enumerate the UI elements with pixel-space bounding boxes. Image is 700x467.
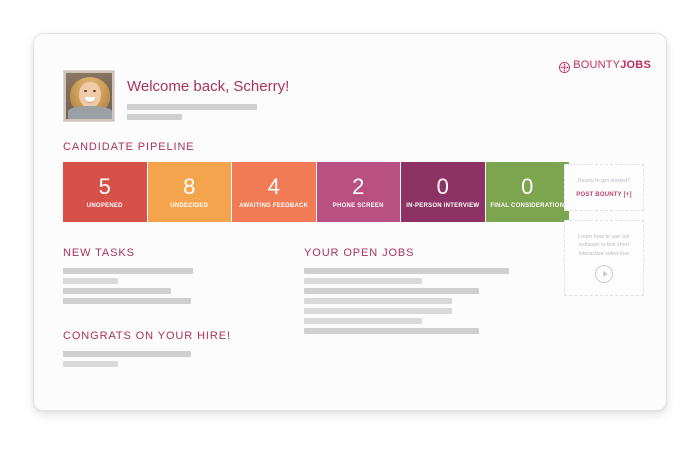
brand-name-light: BOUNTY [573,59,620,71]
new-tasks-section: NEW TASKS [63,247,253,308]
placeholder-bar [304,288,479,294]
new-tasks-placeholder-bars [63,268,253,304]
pipeline-card-undecided[interactable]: 8UNDECIDED [148,162,232,222]
play-circle-icon[interactable] [595,265,613,283]
pipeline-card-count: 0 [521,176,533,198]
candidate-pipeline-heading: CANDIDATE PIPELINE [63,141,569,153]
brand-name: BOUNTYJOBS [573,59,651,71]
pipeline-card-unopened[interactable]: 5UNOPENED [63,162,147,222]
avatar-face [79,82,101,108]
right-rail: Ready to get started? POST BOUNTY [+] Le… [564,164,644,305]
pipeline-card-count: 2 [352,176,364,198]
placeholder-bar [304,308,452,314]
pipeline-card-label: IN-PERSON INTERVIEW [406,203,479,209]
pipeline-card-phone-screen[interactable]: 2PHONE SCREEN [317,162,401,222]
placeholder-bar [63,298,191,304]
placeholder-bar [127,104,257,110]
avatar-eye-left [84,90,87,92]
pipeline-card-count: 5 [99,176,111,198]
placeholder-bar [63,351,191,357]
avatar-shoulders [68,106,112,119]
pinwheel-logo-icon [559,60,570,71]
brand-logo[interactable]: BOUNTYJOBS [559,59,651,71]
open-jobs-heading: YOUR OPEN JOBS [304,247,544,259]
placeholder-bar [63,288,171,294]
pipeline-card-in-person-interview[interactable]: 0IN-PERSON INTERVIEW [401,162,485,222]
play-triangle [603,271,608,277]
placeholder-bar [304,318,422,324]
avatar[interactable] [63,70,115,122]
welcome-text-block: Welcome back, Scherry! [127,70,289,124]
pipeline-card-label: UNDECIDED [170,203,208,209]
placeholder-bar [63,268,193,274]
post-bounty-button[interactable]: POST BOUNTY [+] [571,192,637,198]
post-bounty-caption: Ready to get started? [571,177,637,186]
placeholder-bar [304,328,479,334]
new-tasks-heading: NEW TASKS [63,247,253,259]
placeholder-bar [304,298,452,304]
congrats-placeholder-bars [63,351,253,367]
welcome-placeholder-bars [127,104,289,120]
open-jobs-section: YOUR OPEN JOBS [304,247,544,338]
pipeline-card-label: AWAITING FEEDBACK [239,203,308,209]
pipeline-card-count: 4 [268,176,280,198]
avatar-photo [66,73,112,119]
post-bounty-widget[interactable]: Ready to get started? POST BOUNTY [+] [564,164,644,211]
placeholder-bar [304,268,509,274]
welcome-title: Welcome back, Scherry! [127,78,289,95]
video-tour-caption: Learn how to use our software in this sh… [571,233,637,259]
pipeline-card-label: UNOPENED [87,203,123,209]
pipeline-card-label: FINAL CONSIDERATION [490,203,564,209]
placeholder-bar [63,361,118,367]
open-jobs-placeholder-bars [304,268,544,334]
pipeline-cards: 5UNOPENED8UNDECIDED4AWAITING FEEDBACK2PH… [63,162,569,222]
congrats-section: CONGRATS ON YOUR HIRE! [63,330,253,371]
pipeline-card-final-consideration[interactable]: 0FINAL CONSIDERATION [486,162,570,222]
pipeline-card-awaiting-feedback[interactable]: 4AWAITING FEEDBACK [232,162,316,222]
brand-name-bold: JOBS [620,59,651,71]
app-window: BOUNTYJOBS Welcome back, Scherry! CANDID… [33,33,667,411]
placeholder-bar [304,278,422,284]
pipeline-card-count: 8 [183,176,195,198]
candidate-pipeline-section: CANDIDATE PIPELINE 5UNOPENED8UNDECIDED4A… [63,141,569,222]
placeholder-bar [63,278,118,284]
video-tour-widget[interactable]: Learn how to use our software in this sh… [564,220,644,297]
pipeline-card-label: PHONE SCREEN [333,203,384,209]
placeholder-bar [127,114,182,120]
congrats-heading: CONGRATS ON YOUR HIRE! [63,330,253,342]
welcome-row: Welcome back, Scherry! [63,70,289,124]
avatar-eye-right [93,90,96,92]
pipeline-card-count: 0 [437,176,449,198]
